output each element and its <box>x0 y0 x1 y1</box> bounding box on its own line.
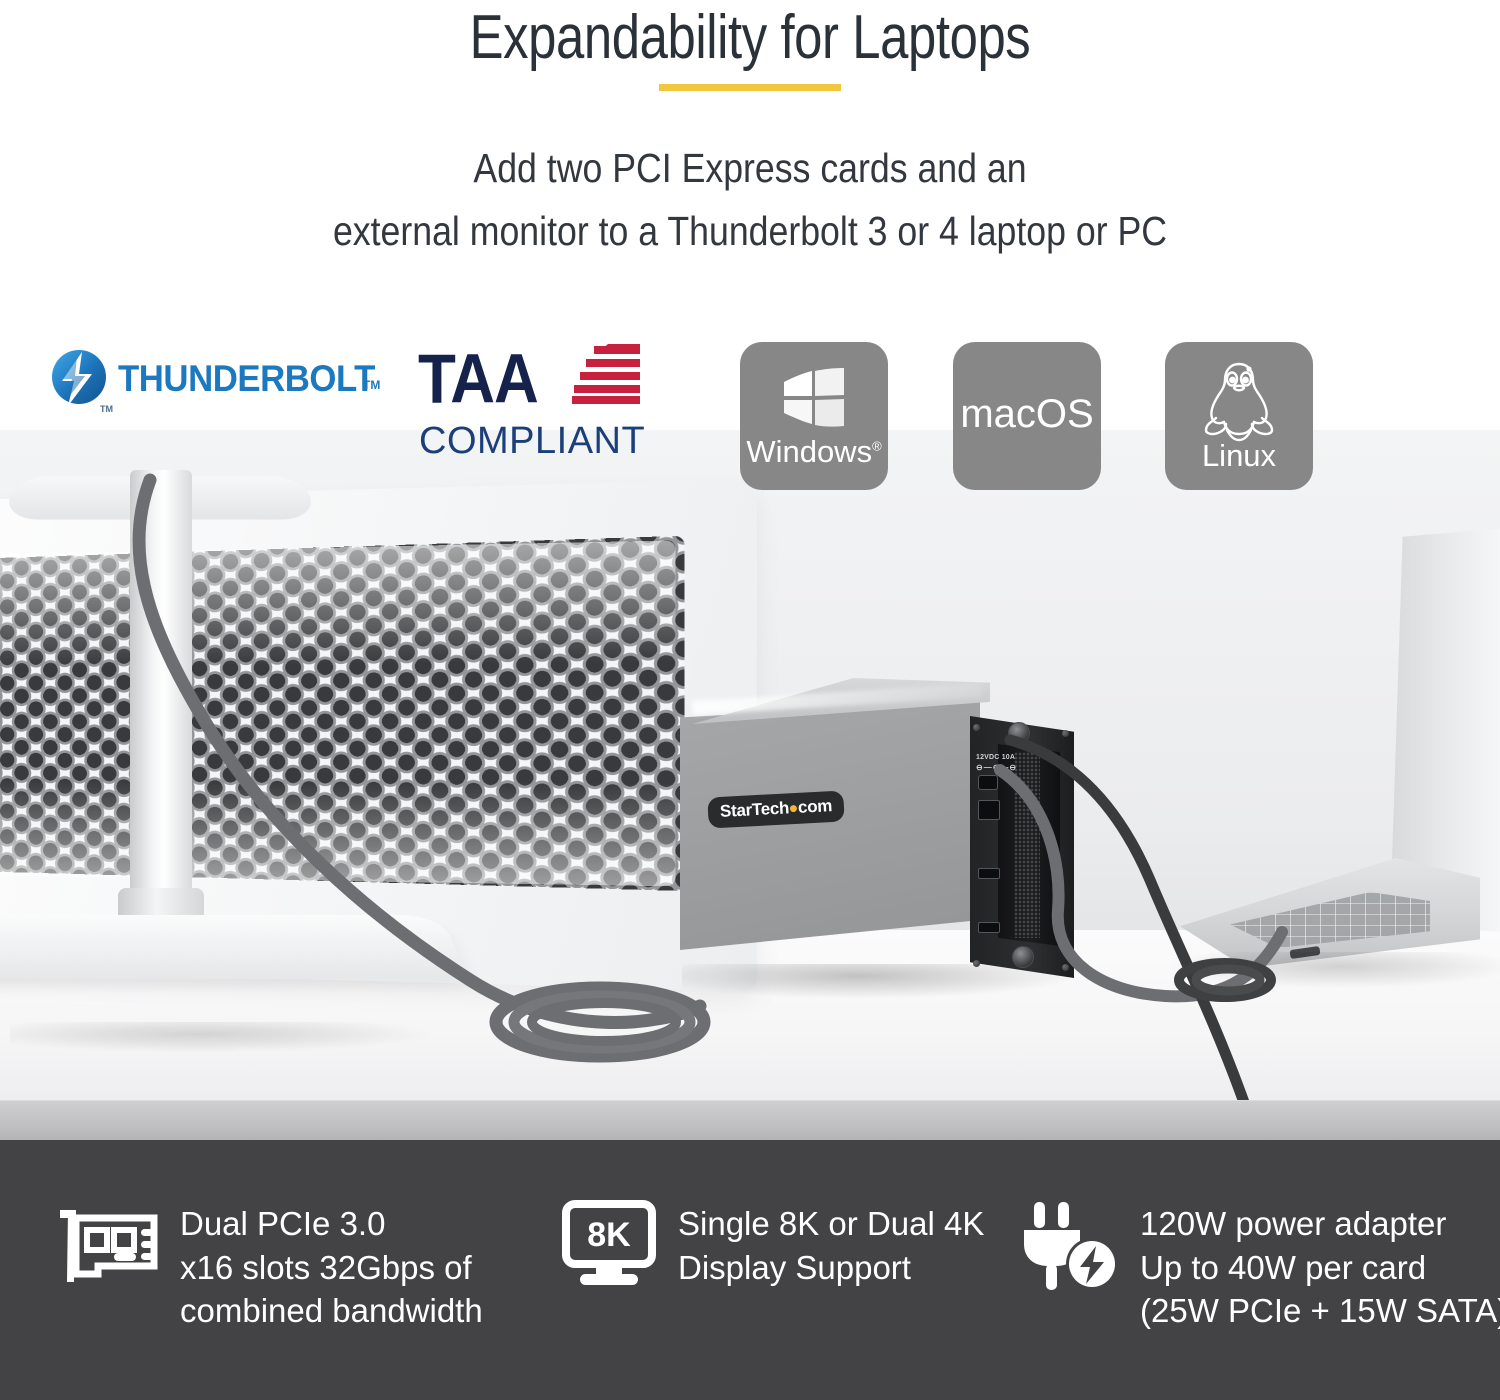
os-badge-macos: macOS <box>953 342 1101 490</box>
feature-line: x16 slots 32Gbps of <box>180 1246 483 1290</box>
monitor-cable <box>139 480 700 1022</box>
title-accent-underline <box>659 84 841 91</box>
monitor-8k-icon: 8K <box>562 1200 656 1288</box>
linux-penguin-icon <box>1202 360 1276 446</box>
certification-badge-row: TM THUNDERBOLT TM TAA COMPLIANT Windows®… <box>0 330 1500 510</box>
feature-text-display: Single 8K or Dual 4K Display Support <box>678 1200 984 1289</box>
header: Expandability for Laptops Add two PCI Ex… <box>0 0 1500 300</box>
os-badge-linux: Linux <box>1165 342 1313 490</box>
feature-text-pcie: Dual PCIe 3.0 x16 slots 32Gbps of combin… <box>180 1200 483 1333</box>
feature-item-power: 120W power adapter Up to 40W per card (2… <box>1020 1200 1500 1333</box>
pcie-card-icon <box>58 1200 158 1286</box>
power-plug-bolt-icon <box>1020 1200 1118 1292</box>
subtitle-line-2: external monitor to a Thunderbolt 3 or 4… <box>98 200 1403 263</box>
os-badge-windows-label: Windows® <box>740 434 888 470</box>
taa-compliant-label: COMPLIANT <box>419 420 645 463</box>
os-badge-windows: Windows® <box>740 342 888 490</box>
taa-compliant-logo: TAA COMPLIANT <box>418 340 648 458</box>
feature-text-power: 120W power adapter Up to 40W per card (2… <box>1140 1200 1500 1333</box>
os-badge-linux-label: Linux <box>1165 438 1313 474</box>
feature-line: (25W PCIe + 15W SATA) <box>1140 1289 1500 1333</box>
dc-power-cable <box>1010 740 1246 1108</box>
taa-flag-stripes-icon <box>572 344 640 406</box>
feature-line: Up to 40W per card <box>1140 1246 1500 1290</box>
subtitle-line-1: Add two PCI Express cards and an <box>98 137 1403 200</box>
feature-line: Single 8K or Dual 4K <box>678 1202 984 1246</box>
monitor-8k-text: 8K <box>587 1216 631 1254</box>
feature-item-display: 8K Single 8K or Dual 4K Display Support <box>562 1200 984 1289</box>
desk-front-edge <box>0 1100 1500 1140</box>
feature-line: 120W power adapter <box>1140 1202 1500 1246</box>
subtitle: Add two PCI Express cards and an externa… <box>98 137 1403 262</box>
feature-line: Dual PCIe 3.0 <box>180 1202 483 1246</box>
feature-line: Display Support <box>678 1246 984 1290</box>
page-title: Expandability for Laptops <box>135 2 1365 73</box>
thunderbolt-trademark: TM <box>363 378 380 392</box>
windows-flag-icon <box>782 368 846 430</box>
thunderbolt-bolt-icon <box>48 348 110 410</box>
thunderbolt-mark-trademark: TM <box>100 404 113 414</box>
feature-item-pcie: Dual PCIe 3.0 x16 slots 32Gbps of combin… <box>58 1200 483 1333</box>
feature-footer-bar: Dual PCIe 3.0 x16 slots 32Gbps of combin… <box>0 1140 1500 1400</box>
thunderbolt-wordmark: THUNDERBOLT <box>118 358 375 400</box>
feature-line: combined bandwidth <box>180 1289 483 1333</box>
thunderbolt-logo: TM THUNDERBOLT TM <box>48 348 378 418</box>
windows-trademark: ® <box>872 439 882 454</box>
cables <box>0 440 1500 1140</box>
taa-wordmark: TAA <box>418 340 538 420</box>
os-badge-macos-label: macOS <box>953 392 1101 437</box>
